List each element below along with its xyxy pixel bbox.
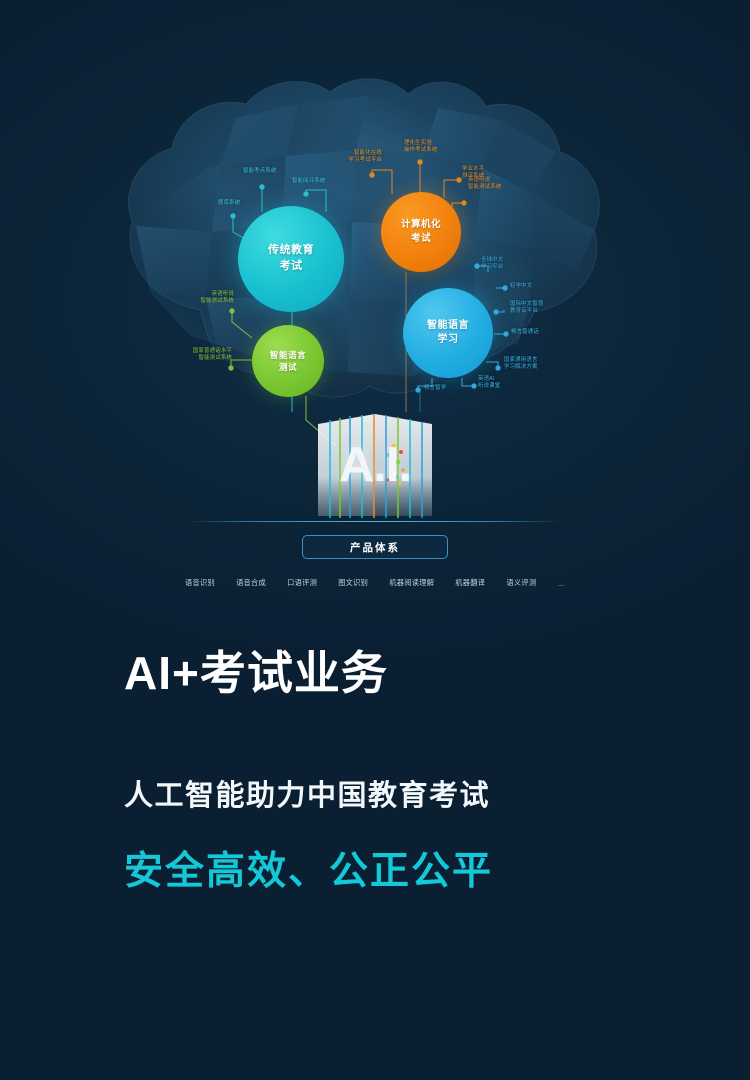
label-changyan-smart-learning: 畅言智学 bbox=[424, 385, 446, 392]
page-tagline: 安全高效、公正公平 bbox=[124, 840, 750, 896]
label-smart-exam-room-system: 智能考点系统 bbox=[243, 168, 277, 175]
keyword-item: 图文识别 bbox=[338, 578, 368, 588]
page-subheadline: 人工智能助力中国教育考试 bbox=[124, 772, 750, 814]
divider-line bbox=[188, 521, 562, 522]
keyword-item: 语音合成 bbox=[236, 578, 266, 588]
label-smart-marking-system: 智能阅评系统 bbox=[292, 178, 326, 185]
keyword-item: … bbox=[557, 579, 565, 588]
keyword-item: 语义评测 bbox=[506, 578, 536, 588]
label-international-chinese-education-cloud: 国际中文智慧 教育云平台 bbox=[510, 301, 544, 316]
keyword-item: 机器翻译 bbox=[455, 578, 485, 588]
keyword-item: 口语评测 bbox=[287, 578, 317, 588]
label-item-bank-system: 题库系统 bbox=[218, 200, 240, 207]
node-traditional-education-exam[interactable]: 传统教育 考试 bbox=[238, 206, 344, 312]
label-beginner-chinese: 初学中文 bbox=[510, 283, 532, 290]
label-global-chinese-learning-platform: 全球中文 学习平台 bbox=[481, 257, 503, 272]
label-lab-operation-exam-system: 理化生实验 操作考试系统 bbox=[404, 140, 438, 155]
label-online-learning-exam-platform: 智能化在线 学习考试平台 bbox=[338, 150, 382, 165]
label-english-listening-speaking-smart-test: 英语听说 智能测试系统 bbox=[468, 177, 502, 192]
label-changyan-putonghua: 畅言普通话 bbox=[511, 329, 539, 336]
page-headline: AI+考试业务 bbox=[124, 648, 750, 700]
label-national-language-learning-solution: 国家通用语言 学习解决方案 bbox=[504, 357, 538, 372]
capability-keyword-row: 语音识别 语音合成 口语评测 图文识别 机器阅读理解 机器翻译 语义评测 … bbox=[185, 578, 565, 588]
product-system-pill[interactable]: 产品体系 bbox=[302, 535, 448, 559]
keyword-item: 语音识别 bbox=[185, 578, 215, 588]
node-intelligent-language-learning[interactable]: 智能语言 学习 bbox=[403, 288, 493, 378]
node-computer-based-exam[interactable]: 计算机化 考试 bbox=[381, 192, 461, 272]
copy-block: AI+考试业务 人工智能助力中国教育考试 安全高效、公正公平 bbox=[0, 648, 750, 896]
label-national-putonghua-proficiency-test-system: 国家普通话水平 智能测试系统 bbox=[176, 348, 232, 363]
keyword-item: 机器阅读理解 bbox=[389, 578, 434, 588]
ai-trunk: A.I. bbox=[316, 415, 434, 515]
hero-illustration: 传统教育 考试 计算机化 考试 智能语言 学习 智能语言 测试 智能考点系统 智… bbox=[0, 0, 750, 640]
label-english-ai-listening-speaking-class: 英语AI 听说课堂 bbox=[478, 376, 500, 391]
label-english-listening-speaking-test-system: 英语听说 智能测试系统 bbox=[186, 291, 234, 306]
node-intelligent-language-testing[interactable]: 智能语言 测试 bbox=[252, 325, 324, 397]
ai-wordmark: A.I. bbox=[316, 437, 434, 493]
